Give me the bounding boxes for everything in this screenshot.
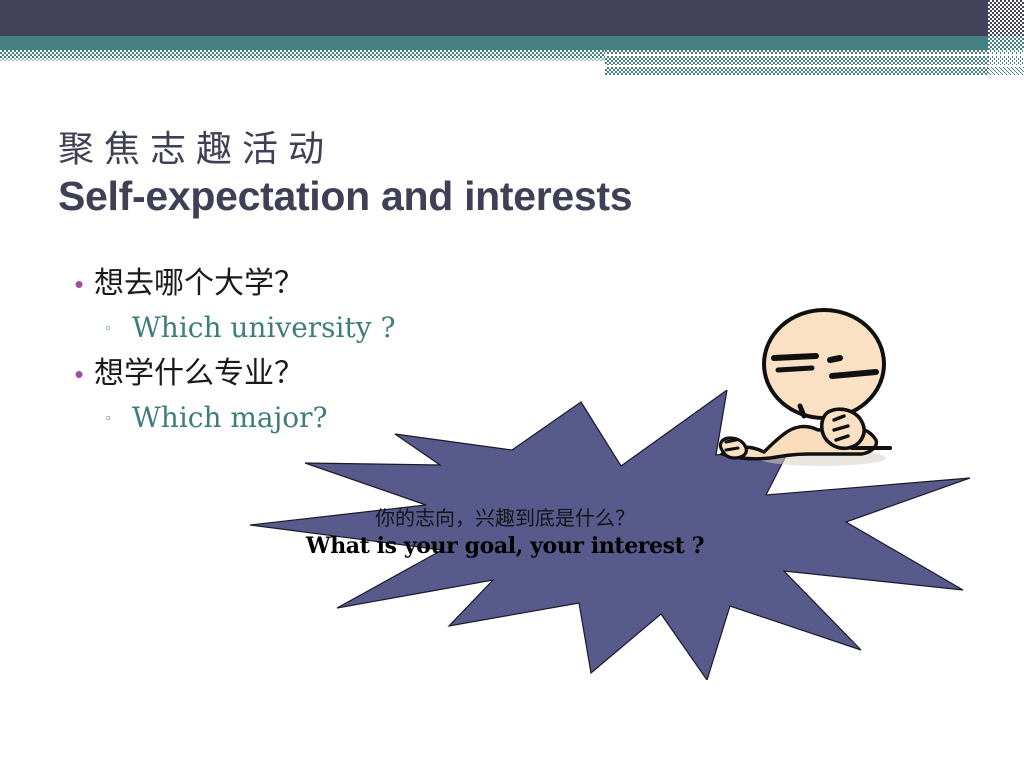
sub-bullet-square-icon: ▫ (106, 398, 132, 438)
slide-header-decoration (0, 0, 1024, 76)
header-dither-row-left-fade (0, 58, 605, 61)
list-item: ▫ Which university ? (106, 308, 684, 348)
page-title-english: Self-expectation and interests (58, 174, 818, 220)
cartoon-thinking-person-image (712, 302, 912, 474)
header-dark-band (0, 0, 1024, 36)
bullet-dot-icon: • (64, 352, 94, 396)
sub-bullet-square-icon: ▫ (106, 308, 132, 348)
page-title-chinese: 聚焦志趣活动 (58, 128, 818, 172)
header-dither-row-right-bottom (605, 67, 1024, 75)
slide-title-block: 聚焦志趣活动 Self-expectation and interests (58, 128, 818, 220)
header-dither-row-right-top (605, 50, 1024, 54)
bullet-dot-icon: • (64, 262, 94, 306)
list-item: • 想去哪个大学？ (64, 262, 684, 306)
thinking-person-icon (712, 302, 912, 474)
bullet-text-english-1: Which university ? (132, 308, 395, 348)
bullet-text-chinese-1: 想去哪个大学？ (94, 262, 304, 306)
header-dither-row-right-mid (605, 56, 1024, 65)
header-dither-row-left (0, 50, 605, 58)
header-teal-band (0, 36, 1024, 50)
header-vertical-dither-strip-2 (1012, 0, 1024, 76)
